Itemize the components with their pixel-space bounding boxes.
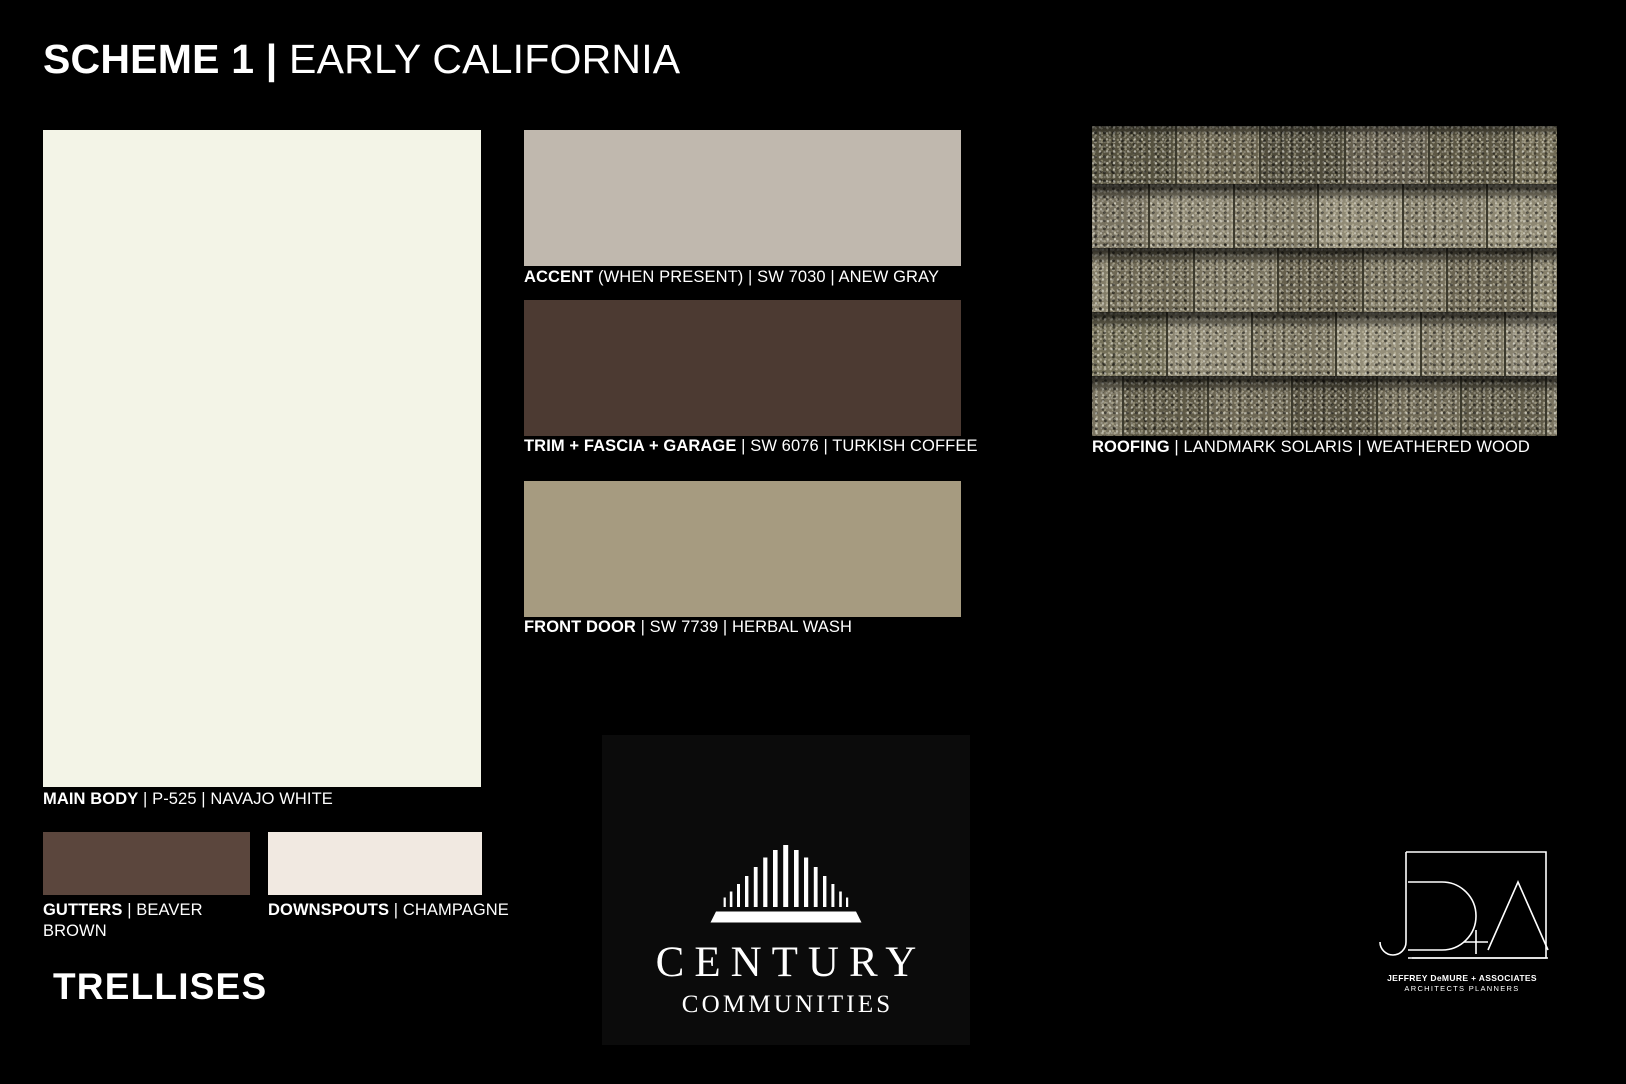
swatch-main-body bbox=[43, 130, 481, 787]
label-accent-title: ACCENT bbox=[524, 268, 593, 286]
label-trim-detail: | SW 6076 | TURKISH COFFEE bbox=[736, 437, 977, 455]
label-trim-fascia-garage: TRIM + FASCIA + GARAGE | SW 6076 | TURKI… bbox=[524, 436, 978, 457]
swatch-accent bbox=[524, 130, 961, 266]
label-trim-title: TRIM + FASCIA + GARAGE bbox=[524, 437, 736, 455]
century-communities-logo-panel: CENTURY COMMUNITIES bbox=[602, 735, 970, 1045]
label-front-door-detail: | SW 7739 | HERBAL WASH bbox=[636, 618, 852, 636]
label-gutters: GUTTERS | BEAVER BROWN bbox=[43, 900, 258, 942]
shingle-texture bbox=[1092, 126, 1557, 436]
swatch-front-door bbox=[524, 481, 961, 617]
jda-logo: JEFFREY DeMURE + ASSOCIATES ARCHITECTS P… bbox=[1372, 846, 1552, 1016]
page-title-name: EARLY CALIFORNIA bbox=[277, 36, 680, 82]
color-scheme-board: SCHEME 1 | EARLY CALIFORNIA MAIN BODY | … bbox=[0, 0, 1626, 1084]
label-roofing: ROOFING | LANDMARK SOLARIS | WEATHERED W… bbox=[1092, 437, 1530, 458]
label-front-door-title: FRONT DOOR bbox=[524, 618, 636, 636]
jda-firm-discipline: ARCHITECTS PLANNERS bbox=[1372, 984, 1552, 993]
label-main-body-title: MAIN BODY bbox=[43, 790, 138, 808]
trellises-heading: TRELLISES bbox=[53, 966, 267, 1008]
century-logo-name: CENTURY bbox=[602, 938, 970, 987]
label-accent: ACCENT (WHEN PRESENT) | SW 7030 | ANEW G… bbox=[524, 267, 939, 288]
label-accent-detail: (WHEN PRESENT) | SW 7030 | ANEW GRAY bbox=[593, 268, 939, 286]
label-downspouts-title: DOWNSPOUTS bbox=[268, 901, 389, 919]
label-downspouts-detail: | CHAMPAGNE bbox=[389, 901, 509, 919]
jda-firm-name: JEFFREY DeMURE + ASSOCIATES bbox=[1372, 973, 1552, 983]
page-title: SCHEME 1 | EARLY CALIFORNIA bbox=[43, 36, 680, 83]
label-downspouts: DOWNSPOUTS | CHAMPAGNE bbox=[268, 900, 568, 921]
swatch-gutters bbox=[43, 832, 250, 895]
jda-monogram-icon bbox=[1372, 846, 1552, 971]
swatch-downspouts bbox=[268, 832, 482, 895]
century-arch-icon bbox=[698, 845, 874, 923]
label-main-body: MAIN BODY | P-525 | NAVAJO WHITE bbox=[43, 789, 333, 810]
label-main-body-detail: | P-525 | NAVAJO WHITE bbox=[138, 790, 333, 808]
label-front-door: FRONT DOOR | SW 7739 | HERBAL WASH bbox=[524, 617, 852, 638]
swatch-roofing-shingle-photo bbox=[1092, 126, 1557, 436]
swatch-trim-fascia-garage bbox=[524, 300, 961, 436]
label-roofing-title: ROOFING bbox=[1092, 438, 1170, 456]
century-logo-subtitle: COMMUNITIES bbox=[602, 991, 970, 1019]
label-gutters-title: GUTTERS bbox=[43, 901, 123, 919]
label-roofing-detail: | LANDMARK SOLARIS | WEATHERED WOOD bbox=[1170, 438, 1530, 456]
page-title-scheme: SCHEME 1 | bbox=[43, 36, 277, 82]
